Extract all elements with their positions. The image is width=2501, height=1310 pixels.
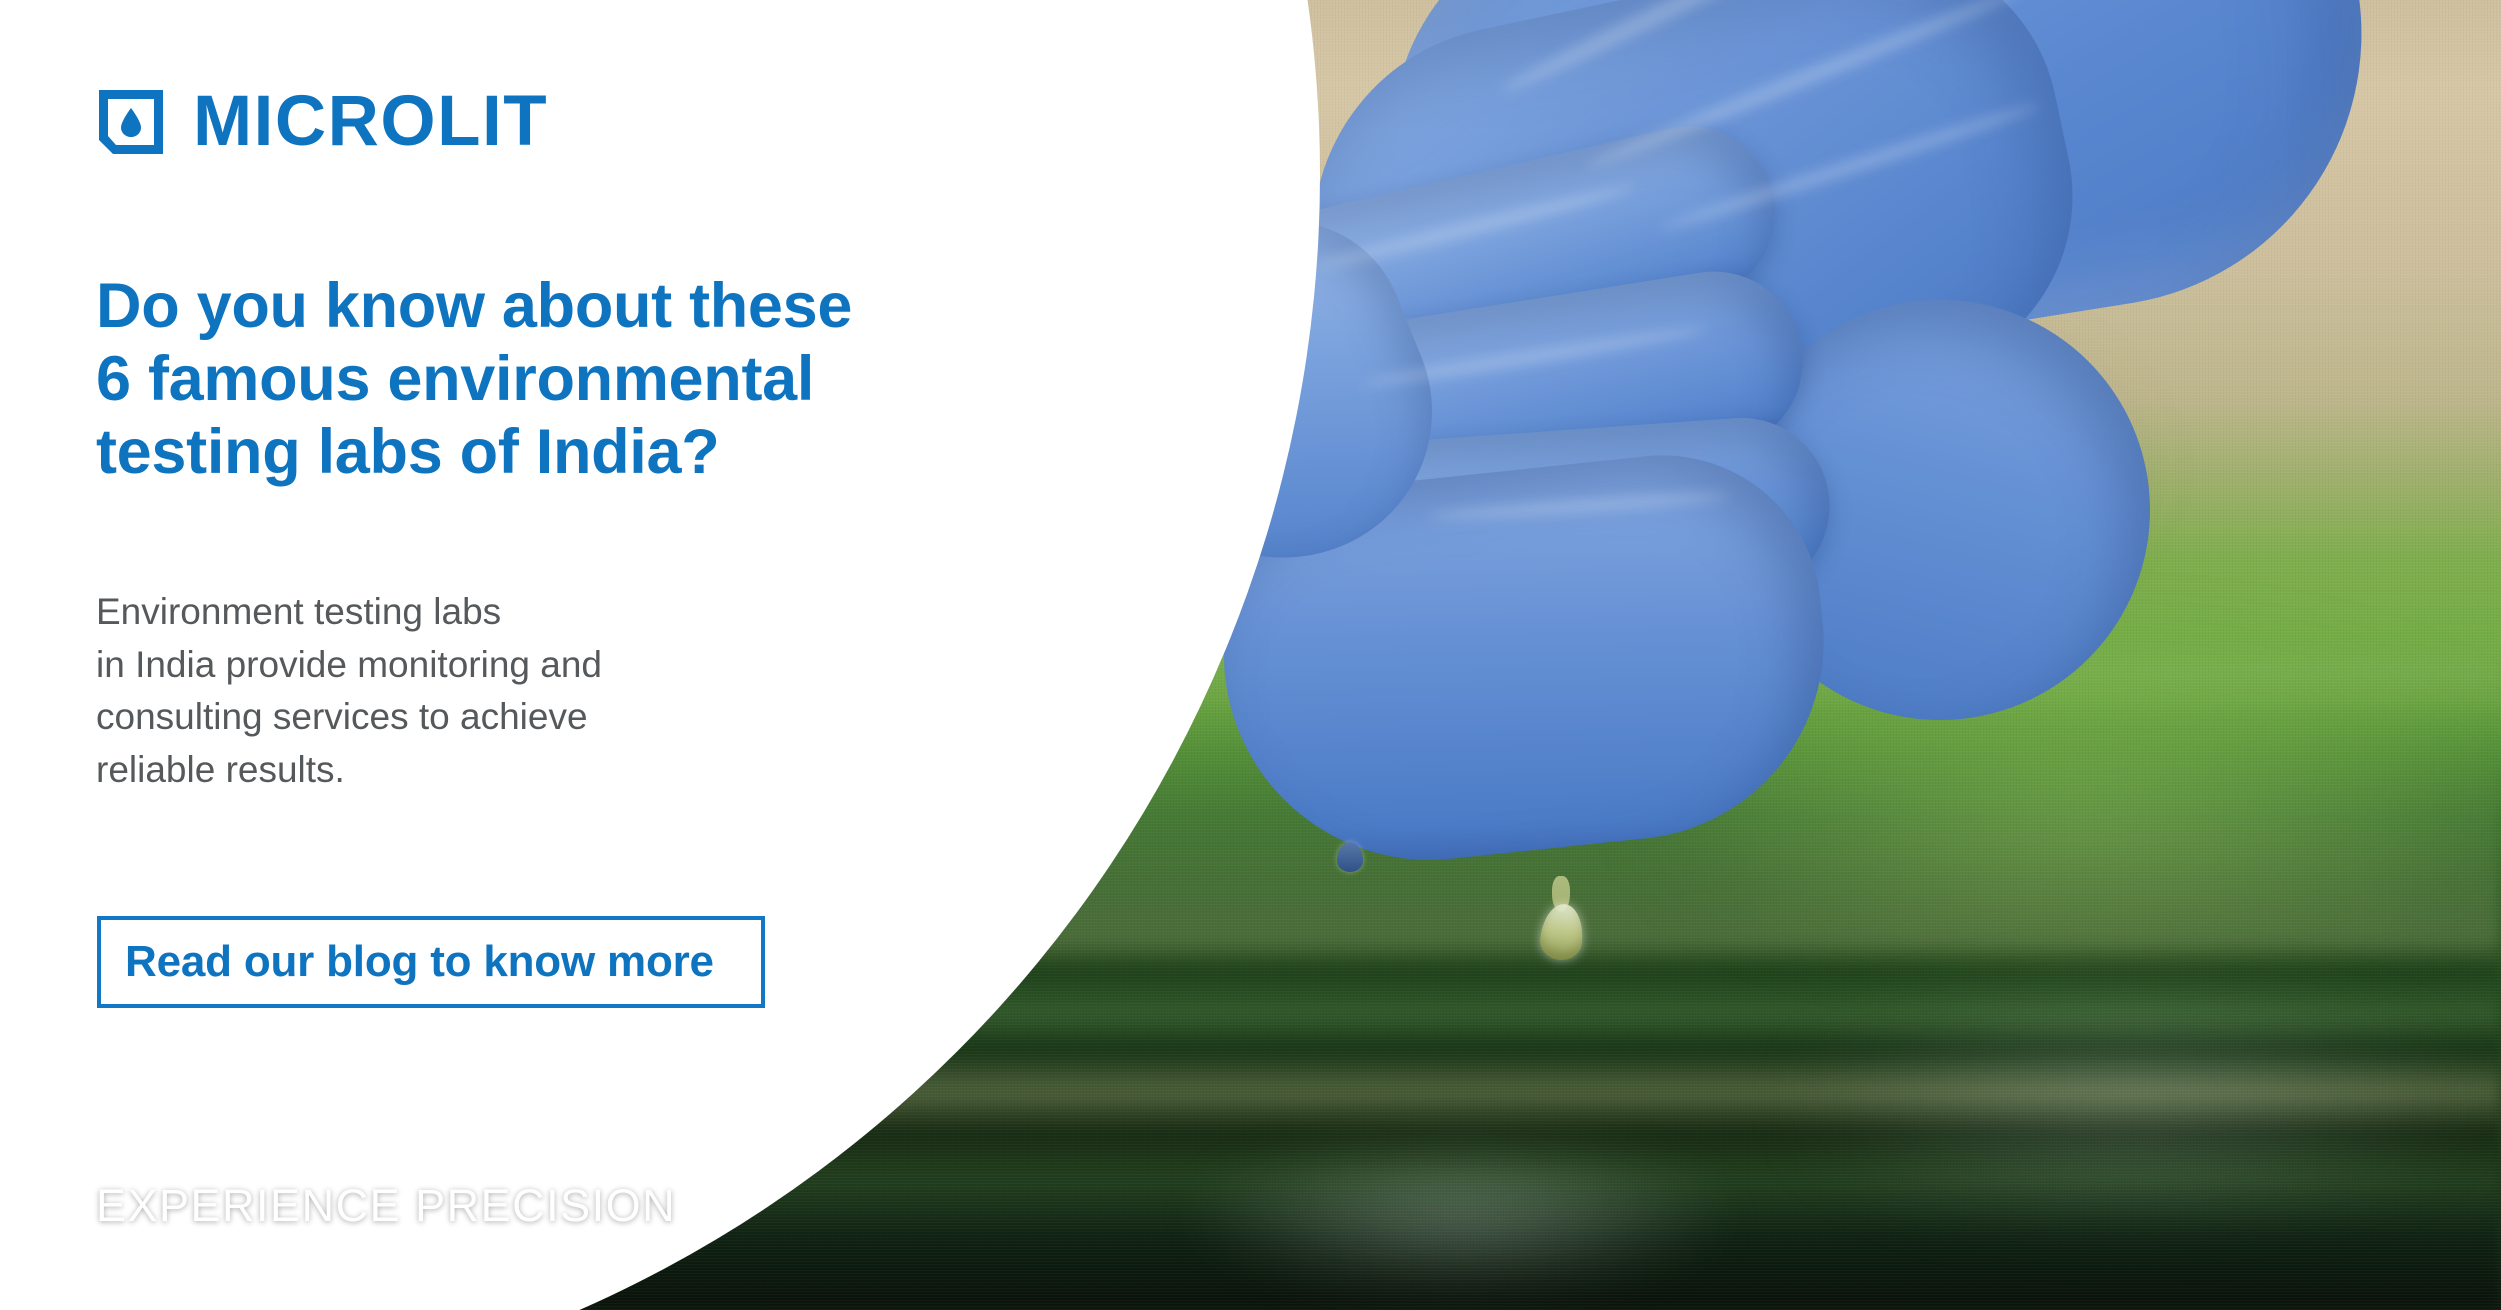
glove-droplet bbox=[1337, 842, 1363, 872]
marketing-banner: MICROLIT Do you know about these 6 famou… bbox=[0, 0, 2501, 1310]
headline-line-1: Do you know about these bbox=[96, 270, 1096, 343]
logo-wordmark: MICROLIT bbox=[193, 86, 548, 157]
headline-line-2: 6 famous environmental bbox=[96, 343, 1096, 416]
square-droplet-icon bbox=[97, 88, 165, 156]
body-copy: Environment testing labs in India provid… bbox=[96, 586, 796, 796]
body-line-1: Environment testing labs bbox=[96, 586, 796, 639]
headline: Do you know about these 6 famous environ… bbox=[96, 270, 1096, 489]
brand-logo[interactable]: MICROLIT bbox=[97, 86, 548, 157]
body-line-2: in India provide monitoring and bbox=[96, 639, 796, 692]
body-line-3: consulting services to achieve bbox=[96, 691, 796, 744]
content-area: MICROLIT Do you know about these 6 famou… bbox=[0, 0, 1300, 1310]
read-blog-button[interactable]: Read our blog to know more bbox=[97, 916, 765, 1008]
tagline: EXPERIENCE PRECISION bbox=[96, 1180, 676, 1232]
body-line-4: reliable results. bbox=[96, 744, 796, 797]
read-blog-button-label: Read our blog to know more bbox=[101, 937, 714, 987]
headline-line-3: testing labs of India? bbox=[96, 416, 1096, 489]
